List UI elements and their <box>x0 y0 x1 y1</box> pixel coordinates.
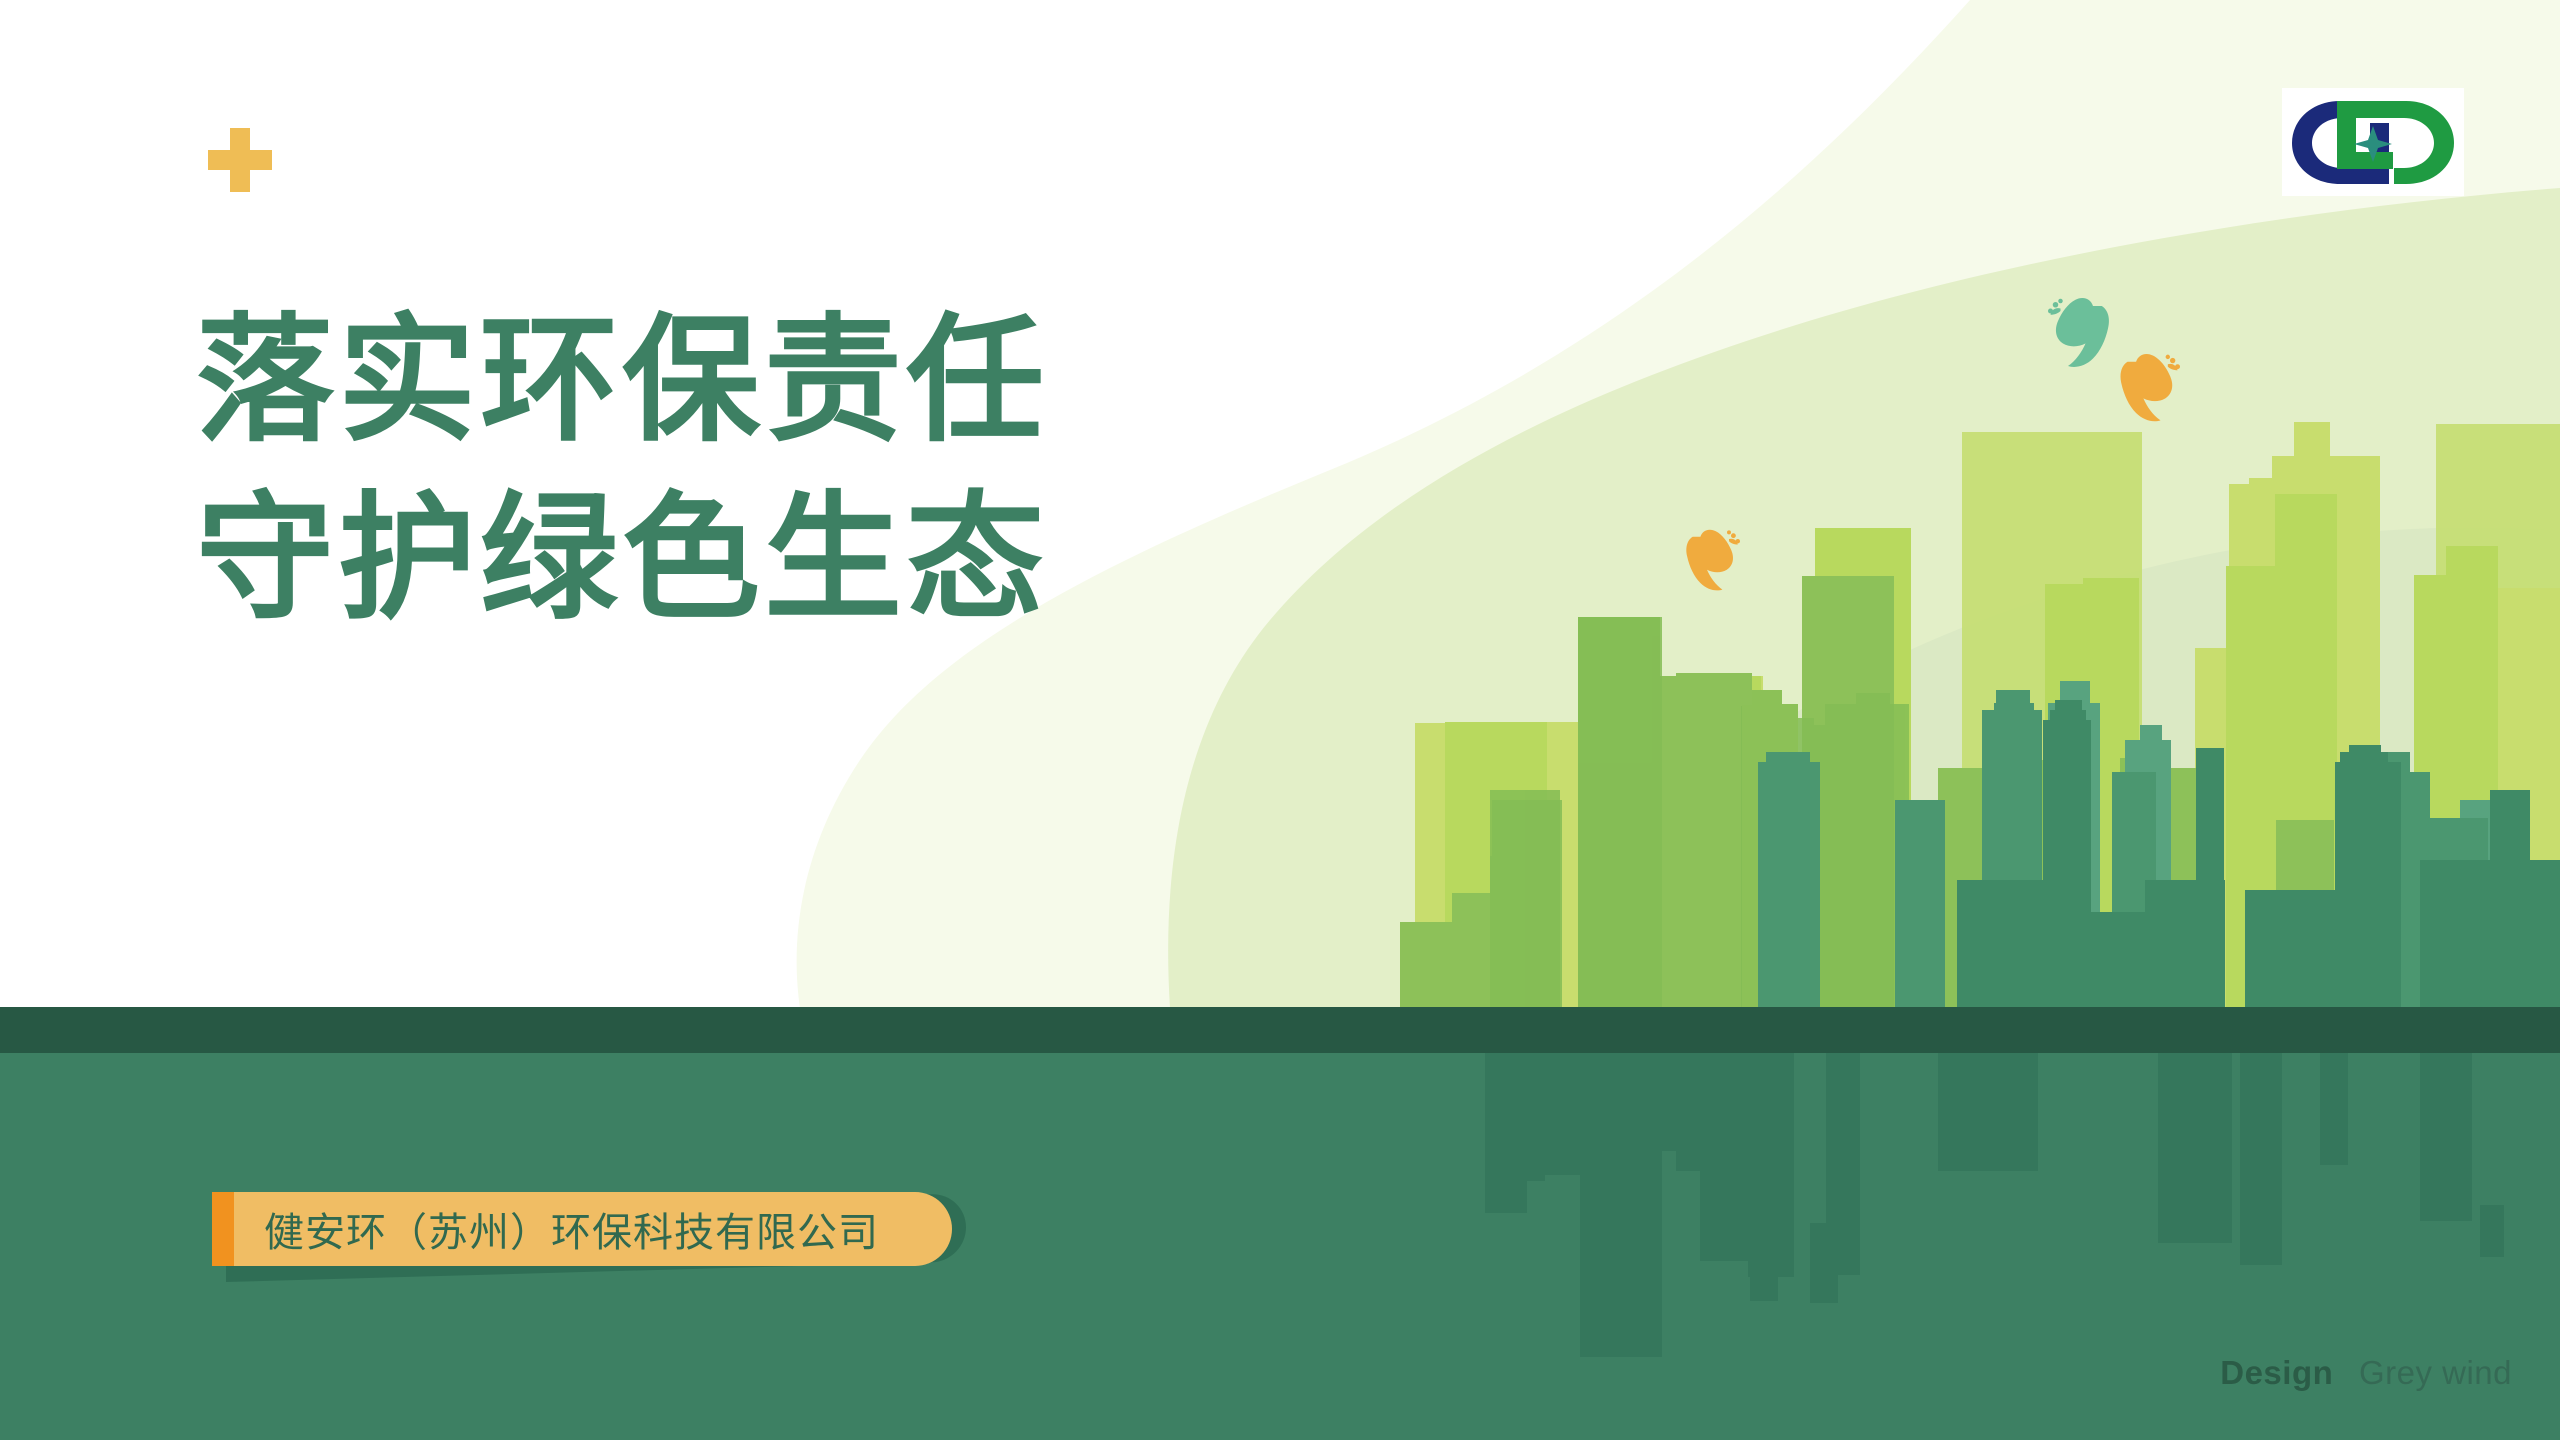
design-credit: Design Grey wind <box>2220 1354 2512 1392</box>
skyline-front-crown-towers <box>2043 700 2091 1008</box>
skyline-front-teal-layer <box>2048 681 2516 1008</box>
badge-accent-bar <box>212 1192 234 1266</box>
skyline-light-layer <box>1445 494 2498 1008</box>
dove-icon-orange <box>2121 354 2180 421</box>
blob-midgreen-shape <box>1585 527 2560 1008</box>
presentation-slide: 落实环保责任 守护绿色生态 <box>0 0 2560 1440</box>
skyline-medium-layer <box>1400 576 2334 1008</box>
skyline-silhouette-layer <box>1957 700 2560 1008</box>
skyline-midlight-layer <box>1415 422 2560 1008</box>
skyline-back-layer <box>1962 424 2560 1008</box>
shoreline-band <box>0 1007 2560 1053</box>
dove-icon-teal <box>2048 298 2109 367</box>
plus-icon-bar-vertical <box>230 128 250 192</box>
skyline-overlay-layer <box>1490 617 1909 1008</box>
plus-icon <box>208 128 272 192</box>
building-reflections <box>1485 1053 2504 1357</box>
dove-icon-orange-2 <box>1686 530 1740 591</box>
design-credit-label: Design <box>2220 1354 2333 1391</box>
badge-body[interactable]: 健安环（苏州）环保科技有限公司 <box>212 1192 952 1266</box>
skyline-step-buildings <box>1742 690 2162 1008</box>
page-title: 落实环保责任 守护绿色生态 <box>196 312 1256 628</box>
company-name-label: 健安环（苏州）环保科技有限公司 <box>264 1200 879 1258</box>
design-credit-value: Grey wind <box>2359 1354 2512 1391</box>
skyline-front-dark-layer <box>1758 690 2488 1008</box>
title-line-2: 守护绿色生态 <box>196 490 1256 628</box>
title-line-1: 落实环保责任 <box>196 312 1256 450</box>
company-name-badge[interactable]: 健安环（苏州）环保科技有限公司 <box>212 1192 952 1266</box>
blob-lightgreen-shape <box>1168 188 2560 1008</box>
company-logo-icon <box>2282 88 2464 196</box>
